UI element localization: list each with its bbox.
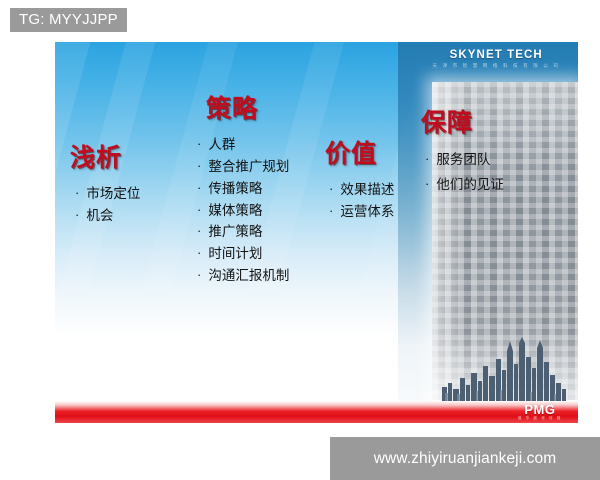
list-item-label: 传播策略: [208, 178, 262, 200]
bullet-dot-icon: ·: [197, 268, 201, 281]
brand-name: SKYNET TECH: [432, 50, 560, 62]
bullet-dot-icon: ·: [197, 224, 201, 237]
list-item-label: 他们的见证: [436, 173, 504, 198]
bullet-dot-icon: ·: [197, 246, 201, 259]
list-item: · 运营体系: [329, 201, 394, 223]
presentation-slide: SKYNET TECH 天 津 市 智 慧 网 络 科 技 有 限 公 司 浅析…: [55, 42, 578, 423]
column-heading: 价值: [325, 134, 394, 170]
content-column-value: 价值 · 效果描述 · 运营体系: [317, 134, 394, 223]
list-item: · 他们的见证: [425, 173, 504, 198]
list-item: · 服务团队: [425, 148, 504, 173]
watermark-top-left: TG: MYYJJPP: [10, 8, 127, 32]
list-item: · 时间计划: [197, 243, 289, 265]
list-item: · 机会: [75, 205, 140, 227]
bullet-dot-icon: ·: [197, 181, 201, 194]
bullet-dot-icon: ·: [197, 203, 201, 216]
bullet-list: · 效果描述 · 运营体系: [329, 179, 394, 223]
column-heading: 策略: [206, 89, 289, 125]
tower-bottom-fade: [432, 330, 578, 400]
content-column-guarantee: 保障 · 服务团队 · 他们的见证: [411, 103, 504, 198]
footer-red-band: PMG 普 华 盛 世 传 媒: [55, 401, 578, 423]
list-item-label: 沟通汇报机制: [208, 265, 289, 287]
list-item-label: 推广策略: [208, 221, 262, 243]
list-item-label: 媒体策略: [208, 200, 262, 222]
bullet-dot-icon: ·: [329, 182, 333, 195]
list-item: · 人群: [197, 134, 289, 156]
list-item-label: 市场定位: [86, 183, 140, 205]
skynet-tech-logo: SKYNET TECH 天 津 市 智 慧 网 络 科 技 有 限 公 司: [432, 50, 560, 68]
bullet-dot-icon: ·: [329, 204, 333, 217]
screenshot-canvas: SKYNET TECH 天 津 市 智 慧 网 络 科 技 有 限 公 司 浅析…: [0, 0, 600, 480]
bullet-list: · 市场定位 · 机会: [75, 183, 140, 227]
pmg-logo-subtitle: 普 华 盛 世 传 媒: [518, 417, 562, 421]
bullet-dot-icon: ·: [197, 159, 201, 172]
pmg-logo-text: PMG: [518, 403, 562, 416]
list-item-label: 整合推广规划: [208, 156, 289, 178]
bullet-list: · 服务团队 · 他们的见证: [425, 148, 504, 198]
bullet-dot-icon: ·: [425, 152, 429, 165]
watermark-bottom-right: www.zhiyiruanjiankeji.com: [330, 437, 600, 480]
list-item: · 沟通汇报机制: [197, 265, 289, 287]
list-item-label: 时间计划: [208, 243, 262, 265]
list-item-label: 机会: [86, 205, 113, 227]
list-item: · 媒体策略: [197, 200, 289, 222]
bullet-list: · 人群 · 整合推广规划 · 传播策略 · 媒体策略 · 推广策略: [197, 134, 289, 287]
list-item-label: 服务团队: [436, 148, 490, 173]
content-column-strategy: 策略 · 人群 · 整合推广规划 · 传播策略 · 媒体策略: [183, 89, 289, 287]
list-item-label: 效果描述: [340, 179, 394, 201]
list-item: · 市场定位: [75, 183, 140, 205]
bullet-dot-icon: ·: [75, 208, 79, 221]
bullet-dot-icon: ·: [75, 186, 79, 199]
content-column-analysis: 浅析 · 市场定位 · 机会: [65, 138, 140, 227]
bullet-dot-icon: ·: [197, 137, 201, 150]
column-heading: 保障: [421, 103, 504, 139]
list-item: · 推广策略: [197, 221, 289, 243]
bullet-dot-icon: ·: [425, 177, 429, 190]
column-heading: 浅析: [70, 138, 140, 174]
pmg-logo: PMG 普 华 盛 世 传 媒: [518, 403, 562, 421]
brand-subtitle: 天 津 市 智 慧 网 络 科 技 有 限 公 司: [432, 64, 560, 69]
list-item: · 效果描述: [329, 179, 394, 201]
list-item-label: 运营体系: [340, 201, 394, 223]
list-item-label: 人群: [208, 134, 235, 156]
list-item: · 整合推广规划: [197, 156, 289, 178]
list-item: · 传播策略: [197, 178, 289, 200]
